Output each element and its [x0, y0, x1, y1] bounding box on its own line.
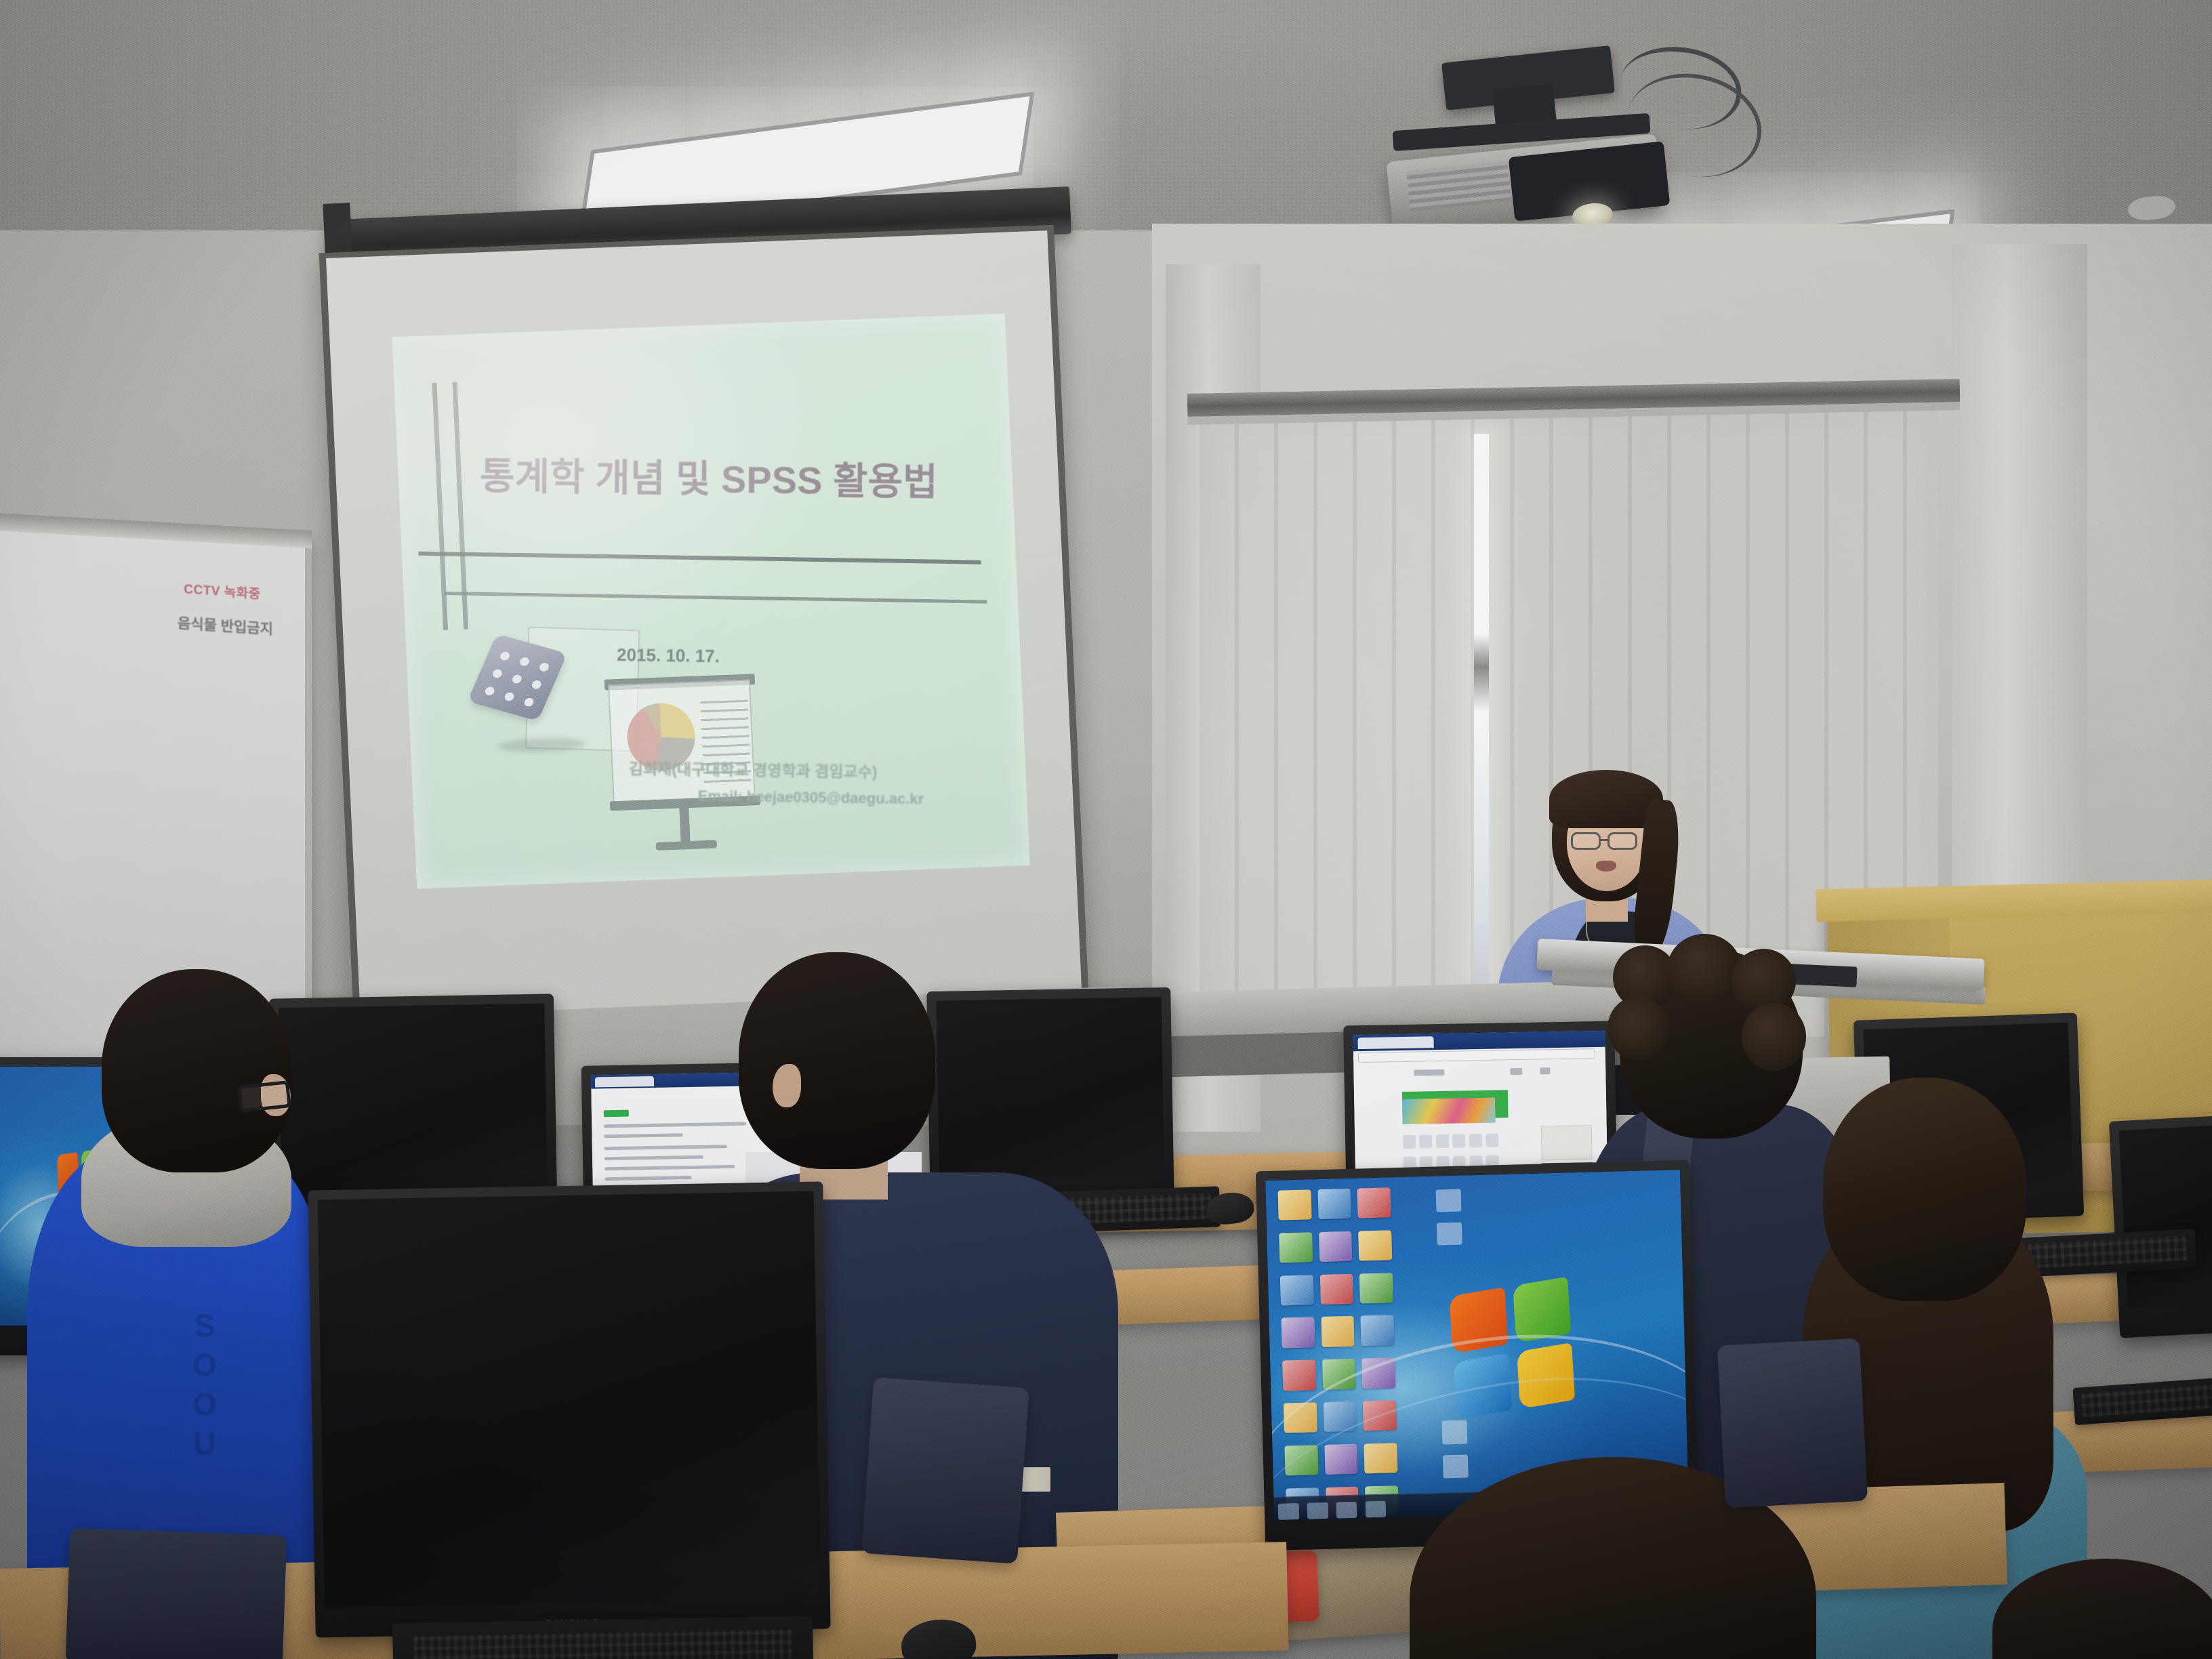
document-accent-chip-left [603, 1110, 629, 1117]
slide-email: Email: heejae0305@daegu.ac.kr [698, 787, 924, 808]
monitor-far-right-edge-screen [2118, 1125, 2212, 1308]
slide-rule-1 [418, 552, 981, 565]
projected-slide: 통계학 개념 및 SPSS 활용법 [392, 314, 1029, 889]
student-center-head [739, 952, 935, 1169]
student-left-eyeglasses [237, 1080, 291, 1113]
right-pillar [1952, 244, 2087, 935]
projection-screen-surface: 통계학 개념 및 SPSS 활용법 [326, 230, 1083, 1045]
page-banner-image[interactable] [1402, 1098, 1496, 1124]
page-sidebar-box [1541, 1126, 1592, 1161]
monitor-fg-off[interactable]: SAMSUNG [308, 1181, 830, 1637]
clipart-board-foot [656, 840, 717, 851]
desktop-icon-column-2[interactable] [1435, 1189, 1462, 1265]
window-tab[interactable] [595, 1076, 655, 1087]
student-center-ear [773, 1064, 801, 1107]
monitor-back-off-screen [936, 997, 1164, 1179]
chair-center[interactable] [861, 1377, 1029, 1563]
jacket-logo-text: SOOU [193, 1308, 223, 1484]
classroom-photo-scene: CCTV 녹화중 음식물 반입금지 통계학 개념 및 SPSS 활용법 [0, 0, 2212, 1659]
clipart-shadow [497, 737, 586, 754]
presenter-mouth [1596, 861, 1616, 872]
screen-powered-off-5 [318, 1191, 821, 1608]
slide-affiliation: 김희재(대구대학교 경영학과 겸임교수) [629, 756, 878, 782]
screen-powered-off [279, 1004, 548, 1213]
eyeglasses-right-lens [1607, 832, 1637, 850]
student-left-head [102, 969, 291, 1172]
chair-left[interactable] [66, 1528, 287, 1659]
student-right-teal-head [1823, 1078, 2026, 1301]
slide-rule-2 [445, 592, 987, 604]
eyeglasses-left-lens [1571, 832, 1601, 850]
monitor-fg-off-screen [318, 1191, 821, 1608]
screen-powered-off-2 [936, 997, 1164, 1179]
keyboard-foreground[interactable] [392, 1616, 814, 1659]
chair-right[interactable] [1717, 1338, 1868, 1509]
slide-date: 2015. 10. 17. [617, 644, 720, 667]
slide-title: 통계학 개념 및 SPSS 활용법 [480, 446, 996, 508]
clipart-board-stand [679, 804, 691, 844]
screen-powered-off-4 [2118, 1125, 2212, 1308]
projection-screen: 통계학 개념 및 SPSS 활용법 [319, 225, 1090, 1052]
slide-clipart [392, 314, 1004, 337]
browser-tab[interactable] [1358, 1036, 1434, 1050]
page-thumbnail-row-1[interactable] [1403, 1133, 1499, 1149]
monitor-center-off-screen [279, 1004, 548, 1213]
monitor-far-right-edge[interactable] [2109, 1115, 2212, 1338]
eyeglasses-bridge [1601, 839, 1609, 841]
window-light-gap [1474, 434, 1489, 989]
